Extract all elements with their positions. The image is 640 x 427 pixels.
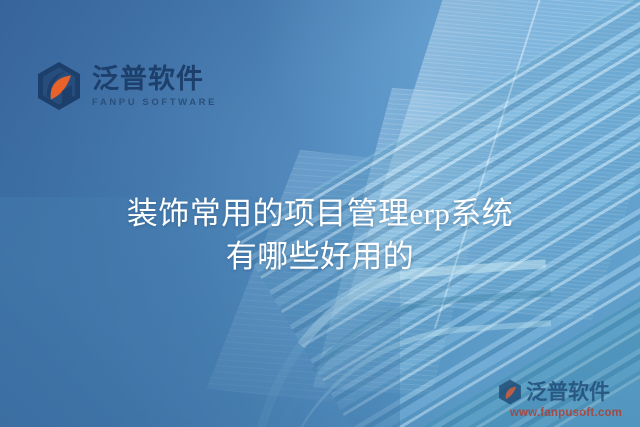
brand-name-cn: 泛普软件 — [92, 66, 217, 94]
promo-banner: 泛普软件 FANPU SOFTWARE 装饰常用的项目管理erp系统 有哪些好用… — [0, 0, 640, 427]
watermark-logo-row: 泛普软件 — [498, 379, 634, 405]
brand-text-block: 泛普软件 FANPU SOFTWARE — [92, 64, 217, 108]
headline-line-1: 装饰常用的项目管理erp系统 — [0, 192, 640, 235]
brand-logo-lockup: 泛普软件 FANPU SOFTWARE — [36, 61, 217, 111]
headline-line-2: 有哪些好用的 — [0, 235, 640, 278]
brand-name-en: FANPU SOFTWARE — [92, 97, 217, 108]
site-watermark: 泛普软件 www.fanpusoft.com — [498, 379, 634, 419]
fanpu-hexagon-sail-logo-icon — [498, 379, 522, 405]
headline: 装饰常用的项目管理erp系统 有哪些好用的 — [0, 192, 640, 278]
watermark-url: www.fanpusoft.com — [498, 407, 634, 419]
watermark-name-cn: 泛普软件 — [526, 382, 610, 403]
fanpu-hexagon-sail-logo-icon — [36, 61, 82, 111]
